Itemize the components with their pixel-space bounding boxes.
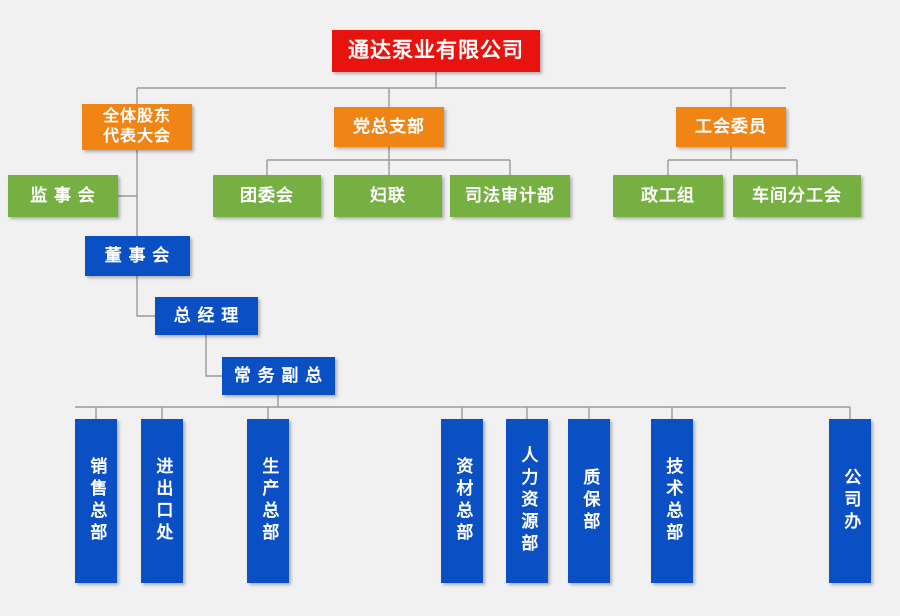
node-executive-vice-gm[interactable]: 常 务 副 总 — [222, 357, 335, 395]
node-supervisory-board[interactable]: 监 事 会 — [8, 175, 118, 217]
link-board-gm — [137, 276, 155, 316]
node-label: 董 事 会 — [105, 245, 170, 266]
node-label: 车间分工会 — [752, 185, 842, 206]
org-chart-canvas: 通达泵业有限公司 全体股东代表大会 党总支部 工会委员 监 事 会 团委会 妇联… — [0, 0, 900, 616]
node-board-of-directors[interactable]: 董 事 会 — [85, 236, 190, 276]
node-label: 党总支部 — [353, 116, 425, 137]
node-technology-department[interactable]: 技术总部 — [651, 419, 693, 583]
node-company-office[interactable]: 公司办 — [829, 419, 871, 583]
node-human-resources[interactable]: 人力资源部 — [506, 419, 548, 583]
node-material-department[interactable]: 资材总部 — [441, 419, 483, 583]
node-general-manager[interactable]: 总 经 理 — [155, 297, 258, 335]
node-label: 销售总部 — [87, 457, 106, 545]
node-union-committee[interactable]: 工会委员 — [676, 107, 786, 147]
node-workshop-union[interactable]: 车间分工会 — [733, 175, 861, 217]
node-judicial-audit[interactable]: 司法审计部 — [450, 175, 570, 217]
node-label: 质保部 — [580, 468, 599, 534]
link-gm-vgm — [206, 335, 222, 376]
node-label: 进出口处 — [153, 457, 172, 545]
node-production-department[interactable]: 生产总部 — [247, 419, 289, 583]
node-label: 妇联 — [370, 185, 406, 206]
node-root[interactable]: 通达泵业有限公司 — [332, 30, 540, 72]
node-import-export-office[interactable]: 进出口处 — [141, 419, 183, 583]
node-quality-assurance[interactable]: 质保部 — [568, 419, 610, 583]
node-label: 生产总部 — [259, 457, 278, 545]
node-label: 政工组 — [641, 185, 695, 206]
node-label: 团委会 — [240, 185, 294, 206]
node-youth-league[interactable]: 团委会 — [213, 175, 321, 217]
node-label: 通达泵业有限公司 — [348, 38, 524, 64]
node-label: 工会委员 — [695, 116, 767, 137]
node-sales-department[interactable]: 销售总部 — [75, 419, 117, 583]
node-label: 全体股东代表大会 — [103, 107, 171, 147]
node-womens-federation[interactable]: 妇联 — [334, 175, 442, 217]
node-label: 公司办 — [841, 468, 860, 534]
node-label: 监 事 会 — [30, 185, 95, 206]
node-label: 司法审计部 — [465, 185, 555, 206]
node-label: 总 经 理 — [174, 305, 239, 326]
node-label: 人力资源部 — [518, 446, 537, 556]
node-label: 资材总部 — [453, 457, 472, 545]
node-label: 技术总部 — [663, 457, 682, 545]
node-political-work-group[interactable]: 政工组 — [613, 175, 723, 217]
node-party-branch[interactable]: 党总支部 — [334, 107, 444, 147]
node-label: 常 务 副 总 — [234, 365, 323, 386]
node-shareholder-assembly[interactable]: 全体股东代表大会 — [82, 104, 192, 150]
